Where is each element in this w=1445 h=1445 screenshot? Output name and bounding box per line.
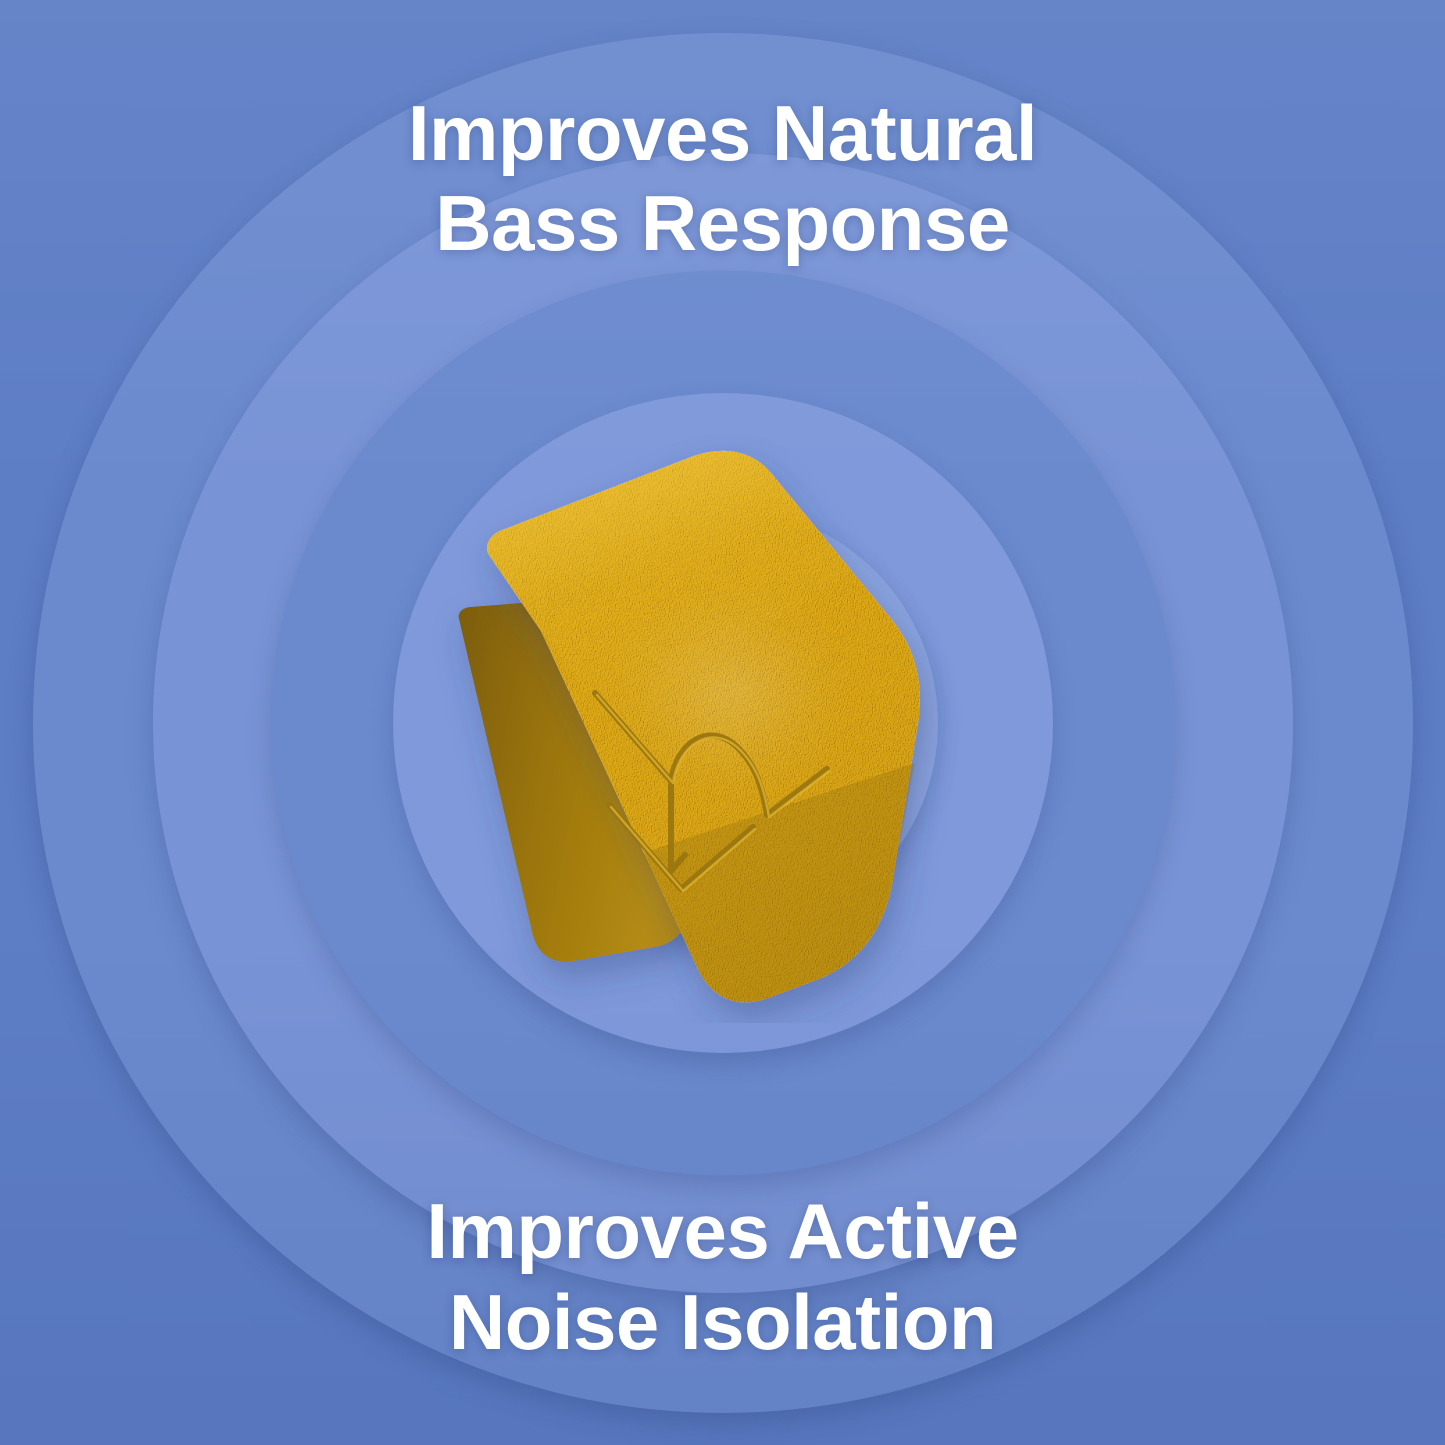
headline-bottom-line-1: Improves Active (70, 1186, 1375, 1276)
headline-top: Improves Natural Bass Response (0, 88, 1445, 269)
headline-top-line-2: Bass Response (70, 178, 1375, 268)
headline-bottom-line-2: Noise Isolation (70, 1277, 1375, 1367)
feature-graphic-canvas: Improves Natural Bass Response (0, 0, 1445, 1445)
product-image-ear-tip (423, 423, 1023, 1023)
headline-top-line-1: Improves Natural (70, 88, 1375, 178)
headline-bottom: Improves Active Noise Isolation (0, 1186, 1445, 1367)
